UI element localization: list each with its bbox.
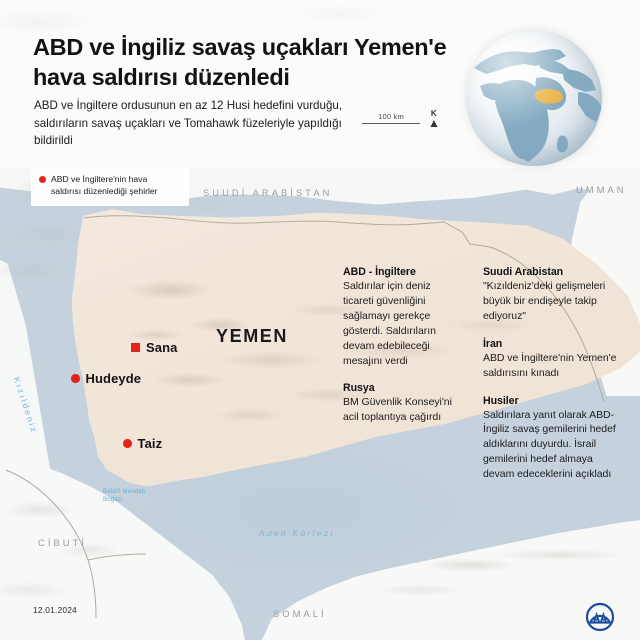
globe-continents [466,30,602,166]
city-marker-hudeyde[interactable]: Hudeyde [71,371,141,386]
north-arrow-indicator: K ▲ [428,110,440,129]
reaction-body: BM Güvenlik Konseyi'ni acil toplantıya ç… [343,395,463,425]
city-circle-icon [123,439,132,448]
label-country-saudi-arabia: SUUDİ ARABİSTAN [203,188,333,198]
city-label-sana: Sana [146,340,177,355]
border-yemen-saudi [84,216,490,247]
reaction-body: Saldırılar için deniz ticareti güvenliği… [343,279,463,368]
city-label-taiz: Taiz [138,436,163,451]
capital-square-icon [131,343,140,352]
legend-red-dot-icon [39,176,46,183]
globe-inset [466,30,602,166]
reaction-title: Suudi Arabistan [483,266,618,278]
label-country-yemen: YEMEN [216,326,288,347]
reaction-block-houthis: Husiler Saldırılara yanıt olarak ABD-İng… [483,395,618,483]
page-title: ABD ve İngiliz savaş uçakları Yemen'e ha… [33,32,453,92]
map-scale-label: 100 km [362,112,420,121]
label-country-djibouti: CİBUTİ [38,538,87,548]
map-scale-bar: 100 km [362,112,420,124]
map-scale-rule [362,123,420,124]
anadolu-agency-logo [585,602,615,632]
north-arrow-icon: ▲ [428,117,440,129]
globe-sphere [466,30,602,166]
reactions-column-right: Suudi Arabistan "Kızıldeniz'deki gelişme… [483,266,618,482]
reaction-title: Husiler [483,395,618,407]
city-marker-taiz[interactable]: Taiz [123,436,162,451]
label-bab-el-mandeb-strait: Babü'l Mendeb Boğazı [103,489,147,504]
reaction-body: "Kızıldeniz'deki gelişmeleri büyük bir e… [483,279,618,324]
reaction-body: Saldırılara yanıt olarak ABD-İngiliz sav… [483,408,618,483]
infographic-root: Kızıldeniz Aden Körfezi Babü'l Mendeb Bo… [0,0,640,640]
reaction-title: İran [483,338,618,350]
reactions-column-middle: ABD - İngiltere Saldırılar için deniz ti… [343,266,463,425]
border-djibouti-somalia [88,554,146,560]
label-country-somalia: SOMALİ [273,609,327,619]
legend-box: ABD ve İngiltere'nin hava saldırısı düze… [31,166,189,206]
city-label-hudeyde: Hudeyde [86,371,142,386]
label-aden-gulf: Aden Körfezi [259,528,335,538]
reaction-title: ABD - İngiltere [343,266,463,278]
reaction-body: ABD ve İngiltere'nin Yemen'e saldırısını… [483,351,618,381]
reaction-title: Rusya [343,382,463,394]
reaction-block-iran: İran ABD ve İngiltere'nin Yemen'e saldır… [483,338,618,381]
city-marker-sana[interactable]: Sana [131,340,177,355]
legend-label: ABD ve İngiltere'nin hava saldırısı düze… [51,173,179,198]
reaction-block-usa-uk: ABD - İngiltere Saldırılar için deniz ti… [343,266,463,368]
label-country-oman: UMMAN [576,185,627,195]
reaction-block-saudi-arabia: Suudi Arabistan "Kızıldeniz'deki gelişme… [483,266,618,324]
reaction-block-russia: Rusya BM Güvenlik Konseyi'ni acil toplan… [343,382,463,425]
city-circle-icon [71,374,80,383]
publication-date: 12.01.2024 [33,605,77,615]
page-subtitle: ABD ve İngiltere ordusunun en az 12 Husi… [34,97,354,150]
